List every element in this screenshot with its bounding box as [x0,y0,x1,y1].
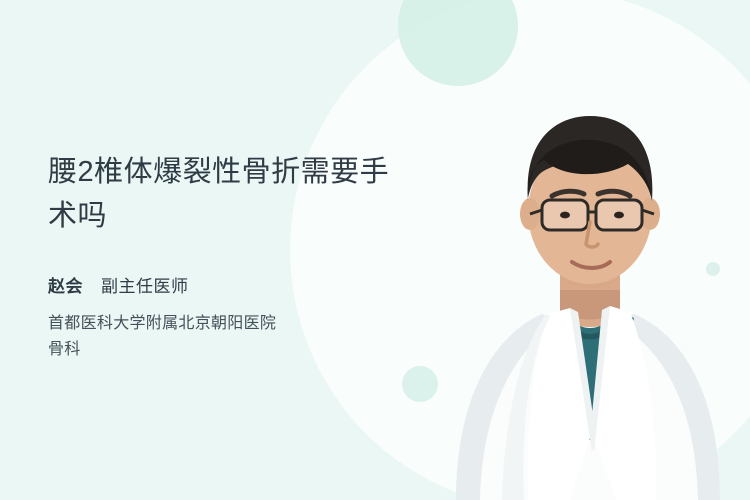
doctor-portrait [420,0,750,500]
doctor-hospital: 首都医科大学附属北京朝阳医院 骨科 [48,311,378,363]
doctor-name: 赵会 [48,272,83,297]
department-name: 骨科 [48,341,81,358]
text-block: 腰2椎体爆裂性骨折需要手术吗 赵会 副主任医师 首都医科大学附属北京朝阳医院 骨… [48,150,408,363]
page-title: 腰2椎体爆裂性骨折需要手术吗 [48,150,408,238]
hospital-name: 首都医科大学附属北京朝阳医院 [48,315,276,332]
video-cover-card: 腰2椎体爆裂性骨折需要手术吗 赵会 副主任医师 首都医科大学附属北京朝阳医院 骨… [0,0,750,500]
doctor-title: 副主任医师 [101,272,189,297]
doctor-line: 赵会 副主任医师 [48,272,408,297]
